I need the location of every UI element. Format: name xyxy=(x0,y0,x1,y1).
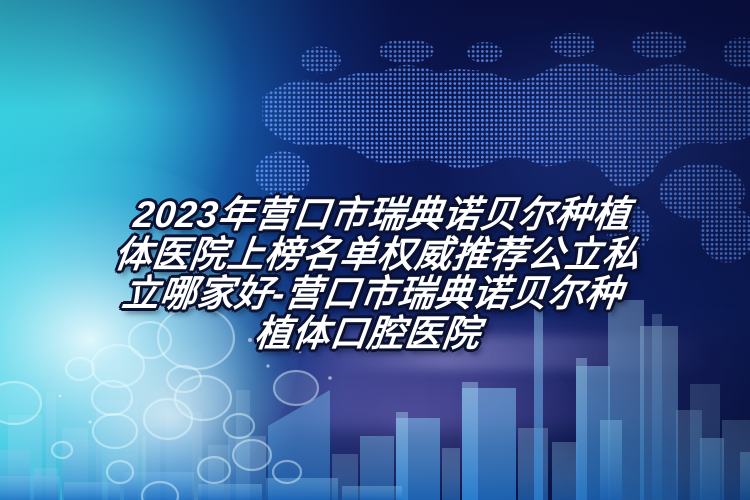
poster-banner: 2023年营口市瑞典诺贝尔种植 体医院上榜名单权威推荐公立私 立哪家好-营口市瑞… xyxy=(0,0,750,500)
poster-title: 2023年营口市瑞典诺贝尔种植 体医院上榜名单权威推荐公立私 立哪家好-营口市瑞… xyxy=(0,195,750,353)
